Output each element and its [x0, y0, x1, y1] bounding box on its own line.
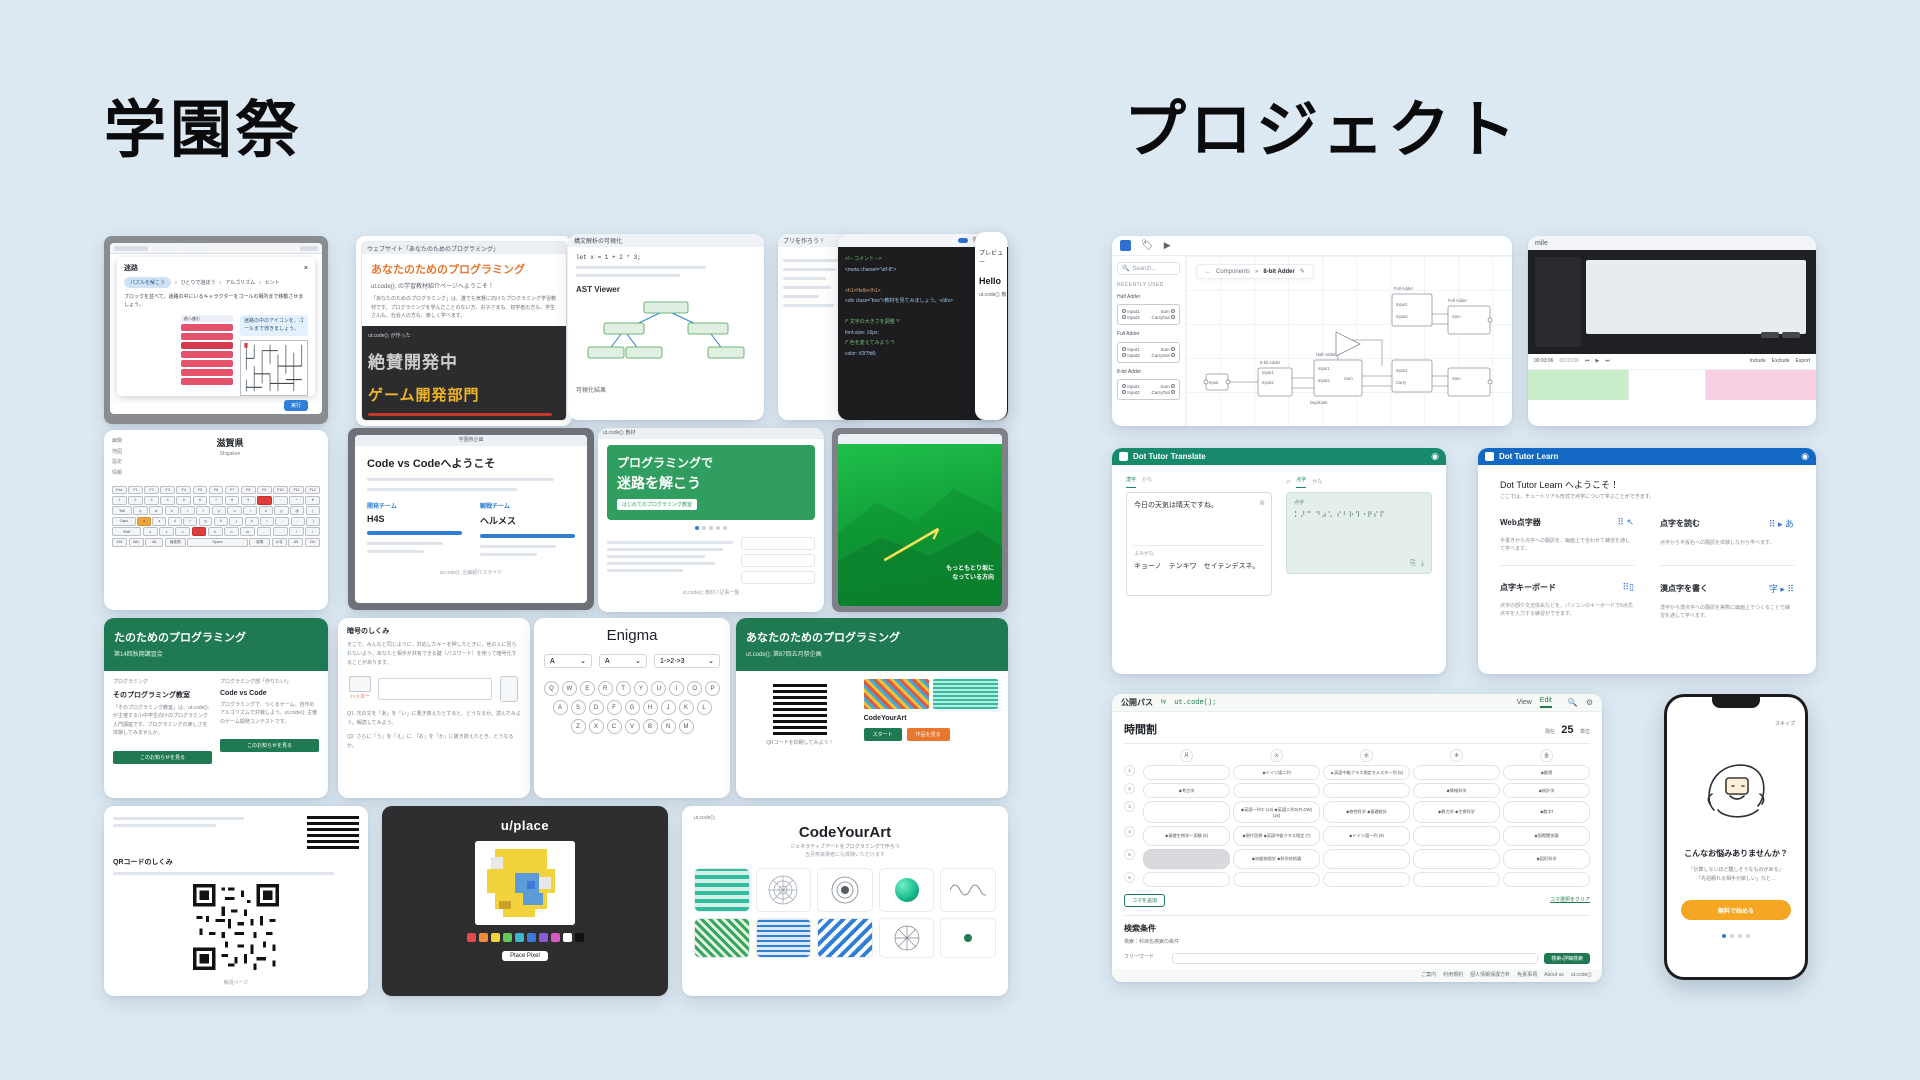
period-4: 5	[1124, 849, 1135, 860]
timetable-grid[interactable]: 月 火 水 木 金 1 ◆ドイツ語二列 ▲英語中級クラス指定セメスター別 (5)…	[1124, 749, 1590, 887]
cell-2-0[interactable]	[1143, 801, 1230, 823]
hacker-note-3: Q2. さらに「う」を「え」に、「お」を「か」に置き換えたとき、どうなるか。	[347, 733, 521, 751]
step-1[interactable]: ひとりで遊ぼう	[181, 279, 216, 286]
browser-tabbar: ウェブサイト「あなたのためのプログラミング」	[362, 242, 566, 254]
g1-col2-body: プログラミングで、つくるゲーム。自作のアルゴリズムで対戦しよう。ut.code(…	[220, 701, 319, 727]
credits-unit: 単位	[1580, 729, 1590, 735]
day-header-4: 金	[1540, 749, 1553, 762]
dtt-input-reading: キョーノ テンキワ セイテンデスネ。	[1134, 561, 1264, 571]
art-gallery-row-1[interactable]	[694, 868, 996, 912]
cell-3-2[interactable]: ◆ドイツ語一列 (9)	[1323, 826, 1410, 846]
terrain-caption-2: なっている方向	[946, 574, 994, 584]
portfolio-page: 学園祭 プロジェクト 迷路 × パズルを解こう › ひとりで遊ぼう	[0, 0, 1920, 1080]
ms-badge: はじめてのプログラミング教室	[617, 499, 697, 510]
footer-link-1[interactable]: 利用規約	[1443, 972, 1463, 980]
prefecture-romaji: Shigaken	[140, 451, 320, 459]
hacker-note-2: Q1. 次の文を「あ」を「い」に置き換えたとすると、どうなるか。読んでみよう。解…	[347, 710, 521, 728]
g1-col2-title: Code vs Code	[220, 690, 319, 697]
palette-section-label: RECENTLY USED	[1117, 282, 1180, 290]
color-palette[interactable]	[394, 933, 656, 942]
ast-viewer-label: AST Viewer	[576, 285, 756, 294]
g1-col1-title: そのプログラミング教室	[113, 690, 212, 700]
rotor-2: 1->2->3	[660, 658, 685, 665]
ast-tree	[576, 298, 756, 376]
svg-text:Sum: Sum	[1344, 376, 1353, 381]
card-keyboard-layout[interactable]: 画像地図設定情報 滋賀県 Shigaken EscF1 F2F3 F4F5 F6…	[104, 430, 328, 610]
cell-5-2[interactable]	[1323, 872, 1410, 887]
timeline[interactable]	[1528, 370, 1816, 400]
section-title-right: プロジェクト	[1124, 100, 1520, 162]
dtt-output-text: ⠅⠜⠉ ⠙⠴⠡ ⠎⠃⠗⠹⠐⠟⠎⠏	[1294, 511, 1424, 519]
preview-heading: Hello	[979, 276, 1003, 286]
day-header-0: 月	[1180, 749, 1193, 762]
cell-4-1[interactable]: ◆初級物理学 ◆科学技術論	[1233, 849, 1320, 869]
step-2[interactable]: アルゴリズム	[225, 279, 255, 286]
carousel-dots[interactable]	[607, 526, 815, 530]
lesson-steps: パズルを解こう › ひとりで遊ぼう › アルゴリズム › ヒント	[124, 277, 308, 288]
run-button[interactable]: 実行	[284, 400, 308, 411]
card-blockly-maze[interactable]: 迷路 × パズルを解こう › ひとりで遊ぼう › アルゴリズム › ヒント ブロ…	[104, 236, 328, 424]
write-braille-icon: 字 ▸ ⠿	[1769, 582, 1794, 595]
cya-sub: ジェネラティブアートをプログラミングで作ろう	[694, 844, 996, 852]
filter-label: 検索：科目名検索の条件	[1124, 939, 1590, 947]
prefecture-name: 滋賀県	[140, 436, 320, 449]
cell-1-2[interactable]	[1323, 783, 1410, 798]
period-2: 3	[1124, 801, 1135, 812]
svg-text:Input2: Input2	[1262, 380, 1274, 385]
g2-qr-caption: QRコードを印刷してみよう！	[746, 740, 854, 748]
github-icon-2[interactable]: ◉	[1801, 451, 1809, 462]
cell-4-2[interactable]	[1323, 849, 1410, 869]
footer-link-0[interactable]: ご案内	[1421, 972, 1436, 980]
card-maze-solver-article[interactable]: ut.code(); 教材 プログラミングで 迷路を解こう はじめてのプログラミ…	[598, 428, 824, 612]
cell-2-1[interactable]: ◆英語一列① (14) ◆英語二列S(FLOW) (16)	[1233, 801, 1320, 823]
hero-line-2: ゲーム開発部門	[368, 384, 480, 405]
ms-line-1: プログラミングで	[617, 454, 805, 471]
credits-value: 25	[1561, 724, 1573, 736]
card-cipher-slides[interactable]: 暗号のしくみ そこで、みんなと同じように、対応したキーを押したときに、他の人に見…	[338, 618, 530, 798]
card-timetable[interactable]: 公開パス by ut.code(); View Edit 🔍 ⚙ 時間割 現在 …	[1112, 694, 1602, 982]
hacker-label: ハッカー	[347, 694, 373, 702]
card-lecture-slides-2[interactable]: あなたのためのプログラミング ut.code(); 第87回五月祭企画 QRコー…	[736, 618, 1008, 798]
clear-selection-link[interactable]: コマ選択をクリア	[1550, 897, 1590, 905]
browser-tab-title[interactable]: ウェブサイト「あなたのためのプログラミング」	[367, 244, 499, 253]
card-circuit-simulator[interactable]: 🏷 ▶ 🔍 Search... RECENTLY USED Half Adder…	[1112, 236, 1512, 426]
svg-text:Input1: Input1	[1262, 370, 1274, 375]
timetable-footer: ご案内 利用規約 個人情報保護方針 免責事項 About us ut.code(…	[1112, 969, 1602, 982]
step-0[interactable]: パズルを解こう	[124, 277, 171, 288]
g2-heading: あなたのためのプログラミング	[746, 629, 998, 645]
g1-col1-label: プログラミング	[113, 679, 212, 687]
cvc-right-label: 観戦チーム	[480, 501, 575, 510]
enigma-row-2[interactable]: A S D F G H J K L	[544, 700, 720, 715]
export-button[interactable]: Export	[1796, 358, 1810, 366]
tag-icon[interactable]: 🏷	[1141, 240, 1154, 251]
github-icon[interactable]: ◉	[1431, 451, 1439, 462]
step-3[interactable]: ヒント	[265, 279, 280, 286]
cell-0-4[interactable]: ◆数理	[1503, 765, 1590, 780]
qr-thumbnail-icon	[307, 813, 359, 849]
cell-3-0[interactable]: ◆基礎生物学ー実験 (8)	[1143, 826, 1230, 846]
period-3: 4	[1124, 826, 1135, 837]
cvc-team-b: ヘルメス	[480, 514, 575, 527]
braille-keyboard-icon: ⠿▯	[1622, 582, 1634, 593]
rotor-1: A	[605, 658, 610, 665]
braille-icon-2	[1485, 452, 1494, 461]
swap-icon[interactable]: ⇄	[1286, 479, 1290, 487]
enigma-row-1[interactable]: Q W E R T Y U I O P	[544, 681, 720, 696]
phone-body: 「計算しないほど難しそうなものがある」 「先週頼れる相手が欲しい」など…	[1677, 866, 1795, 884]
lesson-hint: 迷路の中のアイコンを、ゴールまで導きましょう。	[244, 318, 304, 333]
cell-5-1[interactable]	[1233, 872, 1320, 887]
cell-0-1[interactable]: ◆ドイツ語二列	[1233, 765, 1320, 780]
card-programming-website[interactable]: ウェブサイト「あなたのためのプログラミング」 あなたのためのプログラミング ut…	[356, 236, 572, 426]
period-0: 1	[1124, 765, 1135, 776]
timetable-topbar: 公開パス by ut.code(); View Edit 🔍 ⚙	[1112, 694, 1602, 712]
ms-line-2: 迷路を解こう	[617, 473, 805, 493]
qr-code-icon	[773, 681, 827, 735]
tt-by: by	[1161, 699, 1166, 707]
cell-0-0[interactable]	[1143, 765, 1230, 780]
phone-notch	[1712, 697, 1760, 708]
card-video-editor[interactable]: mile 00:03:06 00:03:06 ⏮ ▶ ⏭ Include Exc…	[1528, 236, 1816, 426]
cell-2-3[interactable]: ◆熱力学 ◆生命科学	[1413, 801, 1500, 823]
card-qr-documentation[interactable]: QRコードのしくみ	[104, 806, 368, 996]
cya-brand: ut.code();	[694, 815, 996, 823]
dtt-tab-braille[interactable]: 点字	[1296, 477, 1306, 488]
cell-5-3[interactable]	[1413, 872, 1500, 887]
pixel-canvas[interactable]	[475, 841, 575, 925]
card-dot-tutor-learn[interactable]: Dot Tutor Learn ◉ Dot Tutor Learn へようこそ！…	[1478, 448, 1816, 674]
dtl-header: Dot Tutor Learn ◉	[1478, 448, 1816, 465]
circuit-toolbar[interactable]: 🏷 ▶	[1112, 236, 1512, 256]
cvc-heading: Code vs Codeへようこそ	[367, 455, 575, 471]
hero-line-1: 絶賛開発中	[368, 348, 458, 373]
video-title: mile	[1535, 240, 1548, 247]
dtt-header: Dot Tutor Translate ◉	[1112, 448, 1446, 465]
g1-col1-body: 「そのプログラミング教室」は、ut.code(); が主催する小中学生向けのプロ…	[113, 704, 212, 738]
g2-art-title: CodeYourArt	[864, 715, 998, 722]
qr-section: 解説ページ	[113, 980, 359, 988]
component-palette[interactable]: 🔍 Search... RECENTLY USED Half Adder Inp…	[1112, 256, 1186, 426]
preview-sub: ut.code(); 教材	[979, 292, 1003, 300]
video-preview[interactable]	[1528, 250, 1816, 354]
download-icon[interactable]: ⤓	[1421, 560, 1424, 568]
site-heading: あなたのためのプログラミング	[371, 261, 557, 277]
cvc-left-label: 開発チーム	[367, 501, 462, 510]
circuit-canvas[interactable]: ← Components » 8-bit Adder ✎	[1186, 256, 1512, 426]
block-stack[interactable]: 前へ進む	[181, 315, 233, 396]
dtl-item-2[interactable]: 点字キーボード ⠿▯ 点字の部や文法体系などを、パソコンのキーボードで6点式点字…	[1500, 566, 1634, 621]
section-title-left: 学園祭	[104, 100, 302, 162]
cell-1-1[interactable]	[1233, 783, 1320, 798]
add-slot-button[interactable]: コマを追加	[1124, 894, 1165, 907]
cell-1-3[interactable]: ◆情報科学	[1413, 783, 1500, 798]
braille-icon	[1119, 452, 1128, 461]
footer-link-4[interactable]: About us	[1544, 972, 1564, 980]
svg-text:Full Adder: Full Adder	[1394, 286, 1413, 291]
tt-brand-2: ut.code();	[1174, 699, 1216, 707]
component-2-title: 8-bit Adder	[1117, 369, 1180, 377]
page-dots[interactable]	[1667, 934, 1805, 938]
theme-toggle[interactable]	[958, 238, 968, 243]
qr-code-large-icon	[190, 881, 282, 973]
card-code-vs-code[interactable]: 学園祭企画 Code vs Codeへようこそ 開発チーム H4S 観戦チーム	[348, 428, 594, 610]
uplace-title: u/place	[394, 818, 656, 833]
modal-title: 迷路	[124, 263, 138, 273]
dtl-sub: ここでは、チュートリアル形式で点字について学ぶことができます。	[1500, 494, 1794, 502]
svg-text:Input: Input	[1209, 380, 1219, 385]
illustration	[1667, 740, 1805, 836]
maze-grid	[240, 340, 308, 396]
site-body: 「あなたのためのプログラミング」は、誰でも気軽に向けたプログラミング学習教材です…	[371, 295, 557, 321]
svg-text:8-bit Adder: 8-bit Adder	[1260, 360, 1281, 365]
web-braille-icon: ⠿ ↖	[1617, 517, 1634, 528]
footer-link-3[interactable]: 免責事項	[1517, 972, 1537, 980]
cta-button[interactable]: 無料で始める	[1681, 900, 1791, 920]
cell-2-4[interactable]: ◆数学Ⅰ	[1503, 801, 1590, 823]
place-pixel-button[interactable]: Place Pixel	[502, 951, 548, 961]
svg-text:Full Adder: Full Adder	[1448, 298, 1467, 303]
skip-back-icon[interactable]: ⏮	[1585, 358, 1590, 366]
article-site: ut.code(); 教材	[603, 430, 636, 438]
site-subheading: ut.code(); の学習教材紹介ページへようこそ！	[371, 281, 557, 290]
cell-4-4[interactable]: ◆図形科学	[1503, 849, 1590, 869]
day-header-3: 木	[1450, 749, 1463, 762]
component-0-title: Half Adder	[1117, 294, 1180, 302]
browser-window: ウェブサイト「あなたのためのプログラミング」 あなたのためのプログラミング ut…	[361, 241, 567, 421]
g2-sub: ut.code(); 第87回五月祭企画	[746, 649, 998, 658]
day-header-1: 火	[1270, 749, 1283, 762]
g1-heading: たのためのプログラミング	[114, 629, 318, 645]
preview-label: プレビュー	[979, 248, 1003, 266]
ast-footer: 可視化結果	[576, 385, 756, 394]
slides-header: たのためのプログラミング 第14回秋期講習会	[104, 618, 328, 671]
cvc-sub: ut.code(); 企画紹介スライド	[367, 570, 575, 578]
period-5: 6	[1124, 872, 1135, 883]
ast-tab-title[interactable]: 構文解析の可視化	[574, 236, 622, 245]
dtt-output: 点字 ⠅⠜⠉ ⠙⠴⠡ ⠎⠃⠗⠹⠐⠟⠎⠏ ⎘ ⤓	[1286, 492, 1432, 574]
settings-icon[interactable]: ⚙	[1586, 698, 1593, 707]
component-1-title: Full Adder	[1117, 331, 1180, 339]
skip-button[interactable]: スキップ	[1775, 721, 1795, 727]
dtl-item-0[interactable]: Web点字器 ⠿ ↖ 手書きから点字への翻訳を、画面上で合わせて練習を通して学べ…	[1500, 517, 1634, 566]
card-enigma-simulator[interactable]: Enigma A⌄ A⌄ 1->2->3⌄ Q W E R T Y U	[534, 618, 730, 798]
keyword-label: フリーワード	[1124, 954, 1166, 962]
cya-sub-2: 五月祭来場者にも体験いただけます	[694, 852, 996, 860]
search-button[interactable]: 検索・詳細検索	[1544, 953, 1590, 964]
exclude-button[interactable]: Exclude	[1772, 358, 1790, 366]
dtt-tab-kana-2[interactable]: かな	[1312, 479, 1322, 487]
period-1: 2	[1124, 783, 1135, 794]
g2-btn-right[interactable]: 作品を見る	[907, 728, 950, 741]
cell-1-4[interactable]: ◆統計学	[1503, 783, 1590, 798]
footer-link-2[interactable]: 個人情報保護方針	[1470, 972, 1510, 980]
skip-forward-icon[interactable]: ⏭	[1605, 358, 1610, 366]
day-header-2: 水	[1360, 749, 1373, 762]
card-ast-viewer[interactable]: 構文解析の可視化 let x = 1 + 2 * 3; AST Viewer	[568, 234, 764, 420]
cya-title: CodeYourArt	[694, 824, 996, 841]
phone-heading: こんなお悩みありませんか？	[1677, 848, 1795, 859]
svg-text:Duplicate: Duplicate	[1310, 400, 1328, 405]
tt-tab-edit[interactable]: Edit	[1540, 697, 1552, 708]
hero-banner: 絶賛開発中 ゲーム開発部門 ut.code(); が作った	[362, 326, 566, 422]
dtl-title: Dot Tutor Learn	[1499, 452, 1558, 461]
cell-3-3[interactable]	[1413, 826, 1500, 846]
timecode-current: 00:03:06	[1534, 358, 1553, 366]
search-placeholder: Search...	[1132, 266, 1156, 272]
svg-text:Input1: Input1	[1396, 368, 1408, 373]
card-lecture-slides-1[interactable]: たのためのプログラミング 第14回秋期講習会 プログラミング そのプログラミング…	[104, 618, 328, 798]
rotor-0: A	[550, 658, 555, 665]
hacker-body: そこで、みんなと同じように、対応したキーを押したときに、他の人に見られないよう、…	[347, 641, 521, 668]
cell-3-4[interactable]: ◆国際関係論	[1503, 826, 1590, 846]
svg-text:Sum: Sum	[1452, 376, 1461, 381]
enigma-row-3[interactable]: Z X C V B N M	[544, 719, 720, 734]
cell-4-0[interactable]	[1143, 849, 1230, 869]
editor-tab-title[interactable]: プリを作ろう！	[783, 236, 825, 245]
app-topbar	[110, 243, 322, 254]
copy-icon[interactable]: ⎘	[1410, 560, 1416, 568]
dtt-input[interactable]: 今日の天気は晴天ですね。 ⊗ よみがな キョーノ テンキワ セイテンデスネ。	[1126, 492, 1272, 596]
g1-btn-2[interactable]: このお知らせを見る	[220, 739, 319, 752]
cell-4-3[interactable]	[1413, 849, 1500, 869]
svg-text:Input2: Input2	[1318, 378, 1330, 383]
dtt-tab-kanji[interactable]: 漢字	[1126, 477, 1136, 488]
tt-tab-view[interactable]: View	[1517, 699, 1532, 706]
search-icon-tt[interactable]: 🔍	[1568, 698, 1578, 707]
timecode-total: 00:03:06	[1559, 358, 1578, 366]
tt-brand: 公開パス	[1121, 697, 1153, 708]
search-heading: 検索条件	[1124, 923, 1590, 934]
cell-5-0[interactable]	[1143, 872, 1230, 887]
g1-btn-1[interactable]: このお知らせを見る	[113, 751, 212, 764]
play-icon[interactable]: ▶	[1164, 240, 1171, 251]
art-gallery-row-2[interactable]	[694, 918, 996, 958]
card-uplace[interactable]: u/place	[382, 806, 668, 996]
cell-1-0[interactable]: ◆考古学	[1143, 783, 1230, 798]
svg-text:Half Adder: Half Adder	[1316, 352, 1336, 357]
cell-0-3[interactable]	[1413, 765, 1500, 780]
close-icon[interactable]: ×	[304, 265, 308, 272]
lesson-instruction: ブロックを並べて、迷路の中にいるキャラクターをゴールの場所まで移動させましょう。	[124, 293, 308, 309]
ast-tabbar: 構文解析の可視化	[568, 234, 764, 247]
clear-icon[interactable]: ⊗	[1259, 499, 1265, 507]
dtt-input-text: 今日の天気は晴天ですね。	[1134, 500, 1264, 510]
play-button-icon[interactable]: ▶	[1595, 358, 1599, 366]
circuit-diagram: Input Input1Input2 Input1Input2 Sum Inpu…	[1186, 256, 1512, 426]
dtt-tab-kana[interactable]: かな	[1142, 477, 1152, 488]
dtt-title: Dot Tutor Translate	[1133, 452, 1206, 461]
svg-text:Input1: Input1	[1318, 366, 1330, 371]
read-braille-icon: ⠿ ▸ あ	[1769, 517, 1794, 530]
card-codeyourart[interactable]: ut.code(); CodeYourArt ジェネラティブアートをプログラミン…	[682, 806, 1008, 996]
dtt-output-label: 点字	[1294, 500, 1424, 508]
cell-5-4[interactable]	[1503, 872, 1590, 887]
g1-sub: 第14回秋期講習会	[114, 649, 318, 658]
dtl-item-1[interactable]: 点字を読む ⠿ ▸ あ 点字から平仮名への翻訳を体験しながら学べます。	[1660, 517, 1794, 566]
footer-link-5[interactable]: ut.code();	[1571, 972, 1592, 980]
terrain-caption-1: もっともとり坂に	[946, 565, 994, 575]
cell-3-1[interactable]: ◆現代思想 ◆英語中級クラス指定 (7)	[1233, 826, 1320, 846]
chip-icon[interactable]	[1120, 240, 1131, 251]
svg-text:Input1: Input1	[1396, 302, 1408, 307]
svg-text:Carry: Carry	[1396, 380, 1407, 385]
dtl-heading: Dot Tutor Learn へようこそ！	[1500, 478, 1794, 491]
qr-title: QRコードのしくみ	[113, 857, 359, 867]
enigma-title: Enigma	[544, 627, 720, 644]
svg-text:Sum: Sum	[1452, 314, 1461, 319]
cell-0-2[interactable]: ▲英語中級クラス指定セメスター別 (5)	[1323, 765, 1410, 780]
ast-code: let x = 1 + 2 * 3;	[576, 254, 756, 261]
keyword-input[interactable]	[1172, 953, 1538, 964]
tablet-screen: 迷路 × パズルを解こう › ひとりで遊ぼう › アルゴリズム › ヒント ブロ…	[110, 243, 322, 414]
lesson-modal: 迷路 × パズルを解こう › ひとりで遊ぼう › アルゴリズム › ヒント ブロ…	[117, 257, 315, 396]
card-mobile-landing[interactable]: スキップ	[1664, 694, 1808, 980]
card-dot-tutor-translate[interactable]: Dot Tutor Translate ◉ 漢字 かな 今日の天気は晴天ですね。…	[1112, 448, 1446, 674]
enigma-rotors[interactable]: A⌄ A⌄ 1->2->3⌄	[544, 654, 720, 668]
cell-2-2[interactable]: ◆物性科学 ◆基礎統計	[1323, 801, 1410, 823]
keyboard[interactable]: EscF1 F2F3 F4F5 F6F7 F8F9 F10F11 F12 12 …	[112, 486, 320, 547]
component-8bit-adder[interactable]: Input1Sum Input2CarryOut	[1117, 379, 1180, 400]
component-full-adder[interactable]: Input1Sum Input2CarryOut	[1117, 342, 1180, 363]
include-button[interactable]: Include	[1750, 358, 1766, 366]
g2-btn-left[interactable]: スタート	[864, 728, 902, 741]
component-half-adder[interactable]: Input1Sum Input2CarryOut	[1117, 304, 1180, 325]
cvc-team-a: H4S	[367, 514, 462, 524]
g1-col2-label: プログラミング部「作りたい!」	[220, 679, 319, 687]
credits-label: 現在	[1545, 729, 1555, 735]
card-3d-terrain[interactable]: もっともとり坂に なっている方向	[832, 428, 1008, 612]
search-input[interactable]: 🔍 Search...	[1117, 262, 1180, 275]
card-preview-pane[interactable]: プレビュー Hello ut.code(); 教材	[975, 232, 1007, 420]
svg-text:Input2: Input2	[1396, 314, 1408, 319]
dtl-item-3[interactable]: 漢点字を書く 字 ▸ ⠿ 漢字から漢点字への翻訳を実際に画面上でつくることで練習…	[1660, 566, 1794, 621]
search-icon: 🔍	[1122, 265, 1129, 272]
tt-heading: 時間割	[1124, 721, 1157, 737]
